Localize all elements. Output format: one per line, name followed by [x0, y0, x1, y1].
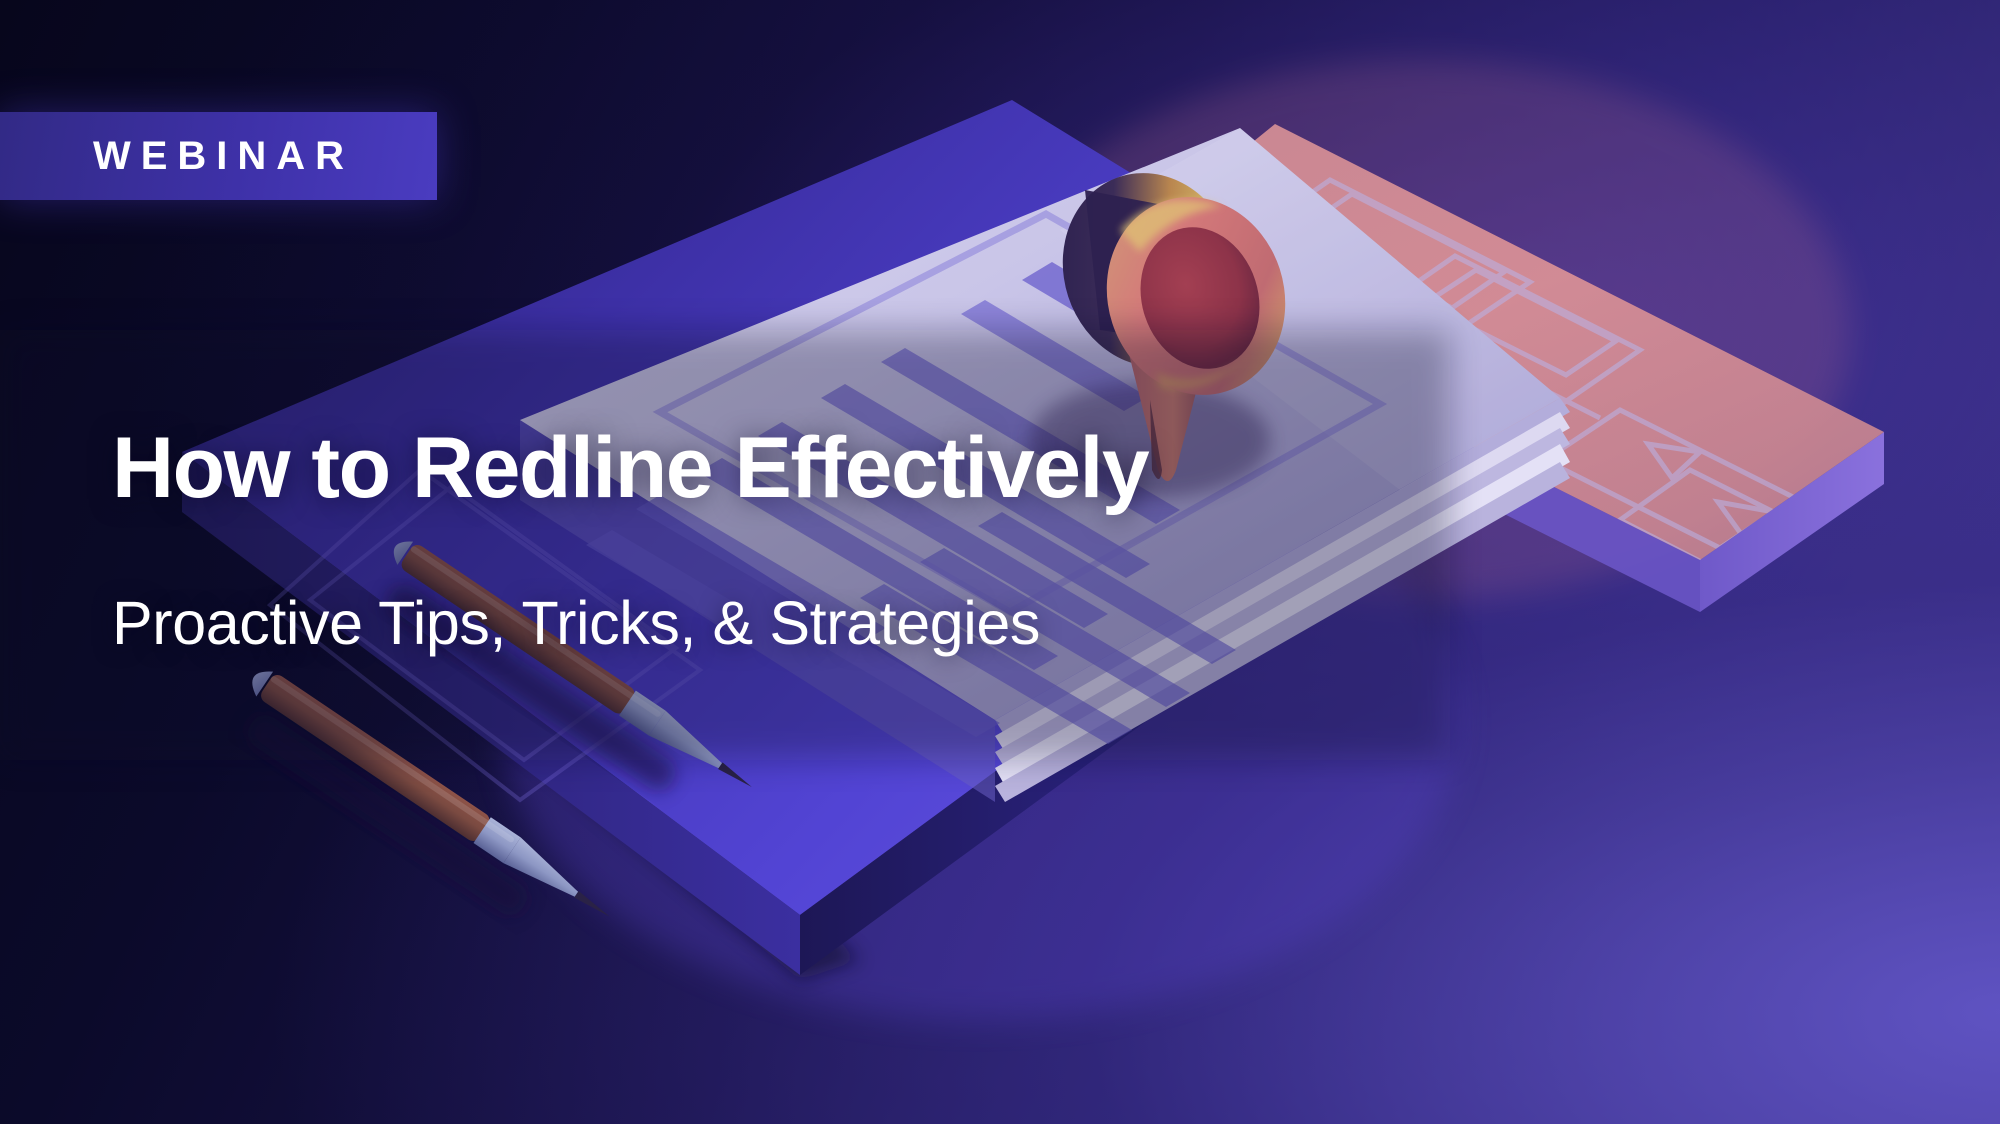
overlay-shape-dash — [1505, 370, 1600, 418]
redline-overlay-panel — [1105, 124, 1885, 618]
overlay-shape-rect-2-inner — [1424, 270, 1616, 375]
pencil-upper-point — [718, 762, 754, 790]
overlay-shape-rect-1 — [1252, 180, 1530, 336]
webinar-badge: WEBINAR — [0, 112, 437, 200]
overlay-card-2-glyph — [1718, 502, 1774, 538]
overlay-card-2 — [1620, 470, 1885, 618]
pencil-lower-barrel — [258, 672, 493, 844]
pencil-lower-cone — [503, 837, 585, 906]
pencil-lower-end — [246, 664, 274, 696]
pin-front-ring — [1081, 174, 1310, 419]
base-platform-side-left — [182, 452, 800, 975]
pencil-upper — [363, 534, 760, 835]
ambient-glow-warm — [990, 60, 1850, 600]
pencil-upper-cone — [649, 711, 729, 778]
overlay-shape-rect-2 — [1380, 256, 1640, 402]
overlay-shape-rect-1-inner — [1298, 194, 1504, 308]
overlay-card-1-glyph — [1648, 444, 1700, 478]
pencil-lower — [222, 664, 618, 964]
page-subtitle: Proactive Tips, Tricks, & Strategies — [112, 590, 1512, 657]
pencil-upper-end — [387, 535, 413, 565]
redline-overlay-side — [1700, 432, 1884, 612]
base-platform — [182, 100, 1500, 980]
pin-inner-hole — [1123, 212, 1278, 385]
pin-band — [1085, 190, 1235, 350]
document-outline-frame — [660, 214, 1380, 612]
pencil-lower-point — [574, 891, 612, 920]
pencil-upper-collar — [619, 691, 666, 736]
pin-highlight — [1120, 200, 1222, 252]
webinar-badge-label: WEBINAR — [83, 134, 354, 179]
pencil-lower-collar — [474, 817, 521, 863]
text-legibility-scrim — [0, 330, 1450, 760]
pin-back-disc — [1038, 150, 1262, 390]
page-title: How to Redline Effectively — [112, 425, 1512, 511]
overlay-card-1 — [1545, 410, 1795, 548]
document-text-lines — [636, 300, 1236, 744]
webinar-promo-banner: WEBINAR How to Redline Effectively Proac… — [0, 0, 2000, 1124]
